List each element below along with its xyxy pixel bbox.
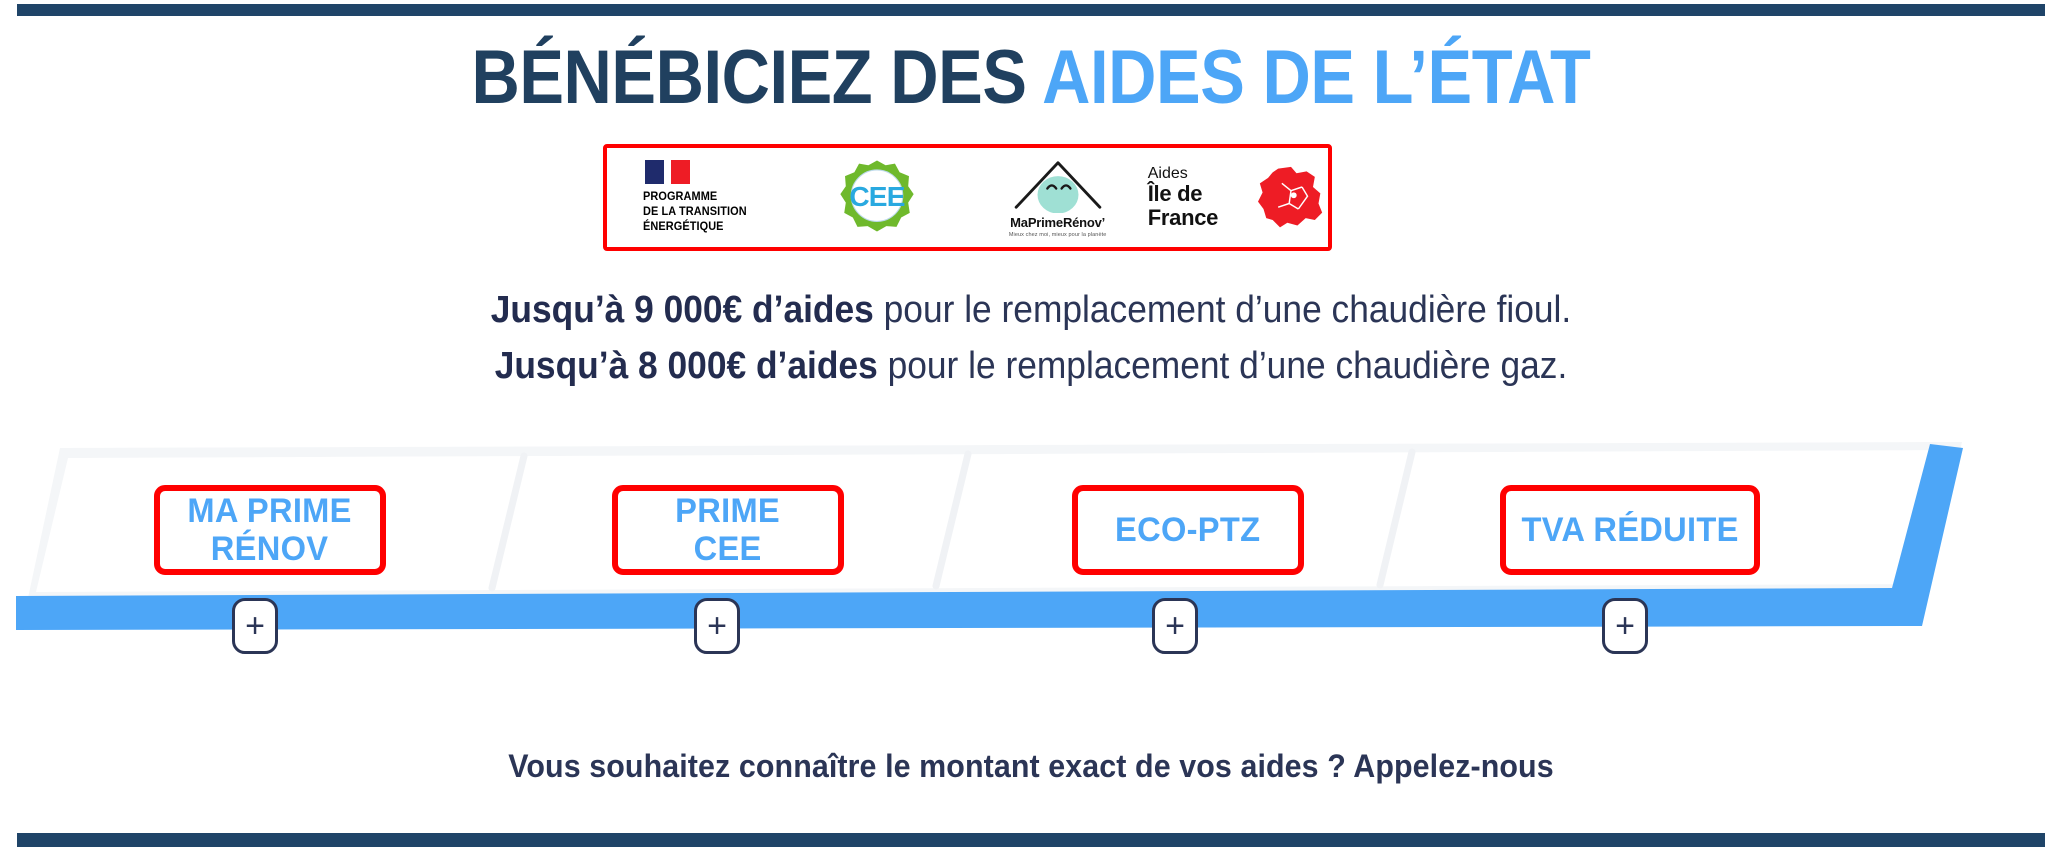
maprimerenov-house-icon — [1009, 157, 1107, 213]
maprimerenov-tagline: Mieux chez moi, mieux pour la planète — [1009, 232, 1107, 238]
aides-line-fioul-rest: pour le remplacement d’une chaudière fio… — [874, 289, 1571, 331]
aides-ribbon: MA PRIME RÉNOV PRIME CEE ECO-PTZ TVA RÉD… — [0, 440, 2062, 650]
page-title-light: AIDES DE L’ÉTAT — [1042, 35, 1590, 120]
logo-aides-ile-de-france: Aides Île de France — [1148, 148, 1328, 247]
aide-card-label: TVA RÉDUITE — [1521, 511, 1738, 549]
bottom-rule — [17, 833, 2045, 847]
pte-line3: ÉNERGÉTIQUE — [643, 220, 747, 235]
idf-line1: Aides — [1148, 165, 1248, 183]
expand-button-tva-reduite[interactable]: + — [1602, 598, 1648, 654]
page-title-dark: BÉNÉBICIEZ DES — [472, 35, 1043, 120]
svg-text:CEE: CEE — [850, 180, 905, 211]
aides-line-fioul: Jusqu’à 9 000€ d’aides pour le remplacem… — [72, 282, 1990, 338]
ile-de-france-map-icon — [1254, 165, 1328, 231]
expand-button-prime-cee[interactable]: + — [694, 598, 740, 654]
aide-card-ma-prime-renov[interactable]: MA PRIME RÉNOV — [154, 485, 386, 575]
expand-button-eco-ptz[interactable]: + — [1152, 598, 1198, 654]
aides-line-gaz-bold: Jusqu’à 8 000€ d’aides — [495, 345, 878, 387]
aides-amounts: Jusqu’à 9 000€ d’aides pour le remplacem… — [72, 282, 1990, 394]
aide-card-label: ECO-PTZ — [1115, 511, 1260, 549]
page-title: BÉNÉBICIEZ DES AIDES DE L’ÉTAT — [124, 38, 1939, 118]
aides-line-gaz: Jusqu’à 8 000€ d’aides pour le remplacem… — [72, 338, 1990, 394]
french-flag-icon — [645, 160, 690, 184]
expand-button-ma-prime-renov[interactable]: + — [232, 598, 278, 654]
aide-card-eco-ptz[interactable]: ECO-PTZ — [1072, 485, 1304, 575]
logo-strip: PROGRAMME DE LA TRANSITION ÉNERGÉTIQUE C… — [603, 144, 1332, 251]
logo-cee: CEE — [787, 148, 967, 247]
aide-card-tva-reduite[interactable]: TVA RÉDUITE — [1500, 485, 1760, 575]
ribbon-cells: MA PRIME RÉNOV PRIME CEE ECO-PTZ TVA RÉD… — [0, 440, 2062, 650]
aide-card-prime-cee[interactable]: PRIME CEE — [612, 485, 844, 575]
aide-card-label: MA PRIME RÉNOV — [188, 492, 352, 568]
page-root: BÉNÉBICIEZ DES AIDES DE L’ÉTAT PROGRAMME… — [0, 0, 2062, 854]
aide-card-label: PRIME CEE — [676, 492, 781, 568]
aides-line-gaz-rest: pour le remplacement d’une chaudière gaz… — [878, 345, 1568, 387]
cee-badge-icon: CEE — [838, 159, 916, 237]
logo-programme-transition-energetique: PROGRAMME DE LA TRANSITION ÉNERGÉTIQUE — [607, 148, 787, 247]
idf-line2: Île de France — [1148, 182, 1248, 230]
logo-maprimerenov: MaPrimeRénov’ Mieux chez moi, mieux pour… — [968, 148, 1148, 247]
pte-line1: PROGRAMME — [643, 190, 747, 205]
maprimerenov-label: MaPrimeRénov’ — [1010, 215, 1105, 230]
call-us-prompt: Vous souhaitez connaître le montant exac… — [52, 748, 2011, 785]
aides-line-fioul-bold: Jusqu’à 9 000€ d’aides — [491, 289, 874, 331]
pte-line2: DE LA TRANSITION — [643, 205, 747, 220]
top-rule — [17, 4, 2045, 16]
